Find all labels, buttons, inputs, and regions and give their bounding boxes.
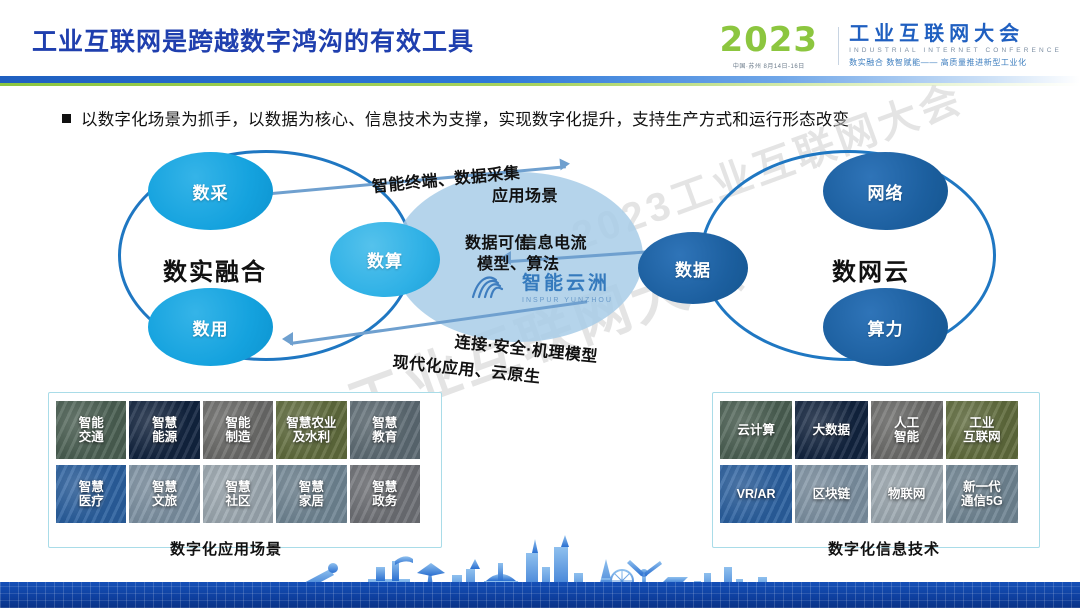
tile[interactable]: 云计算 [720, 401, 792, 459]
logo-year-subtitle: 中国·苏州 8月14日-16日 [733, 61, 805, 70]
panel-digital-technologies: 云计算大数据人工 智能工业 互联网 VR/AR区块链物联网新一代 通信5G [712, 392, 1040, 548]
page-title: 工业互联网是跨越数字鸿沟的有效工具 [32, 22, 474, 58]
logo-name-en: INDUSTRIAL INTERNET CONFERENCE [849, 47, 1062, 54]
inspur-brand-cn: 智能云洲 [522, 268, 613, 295]
scenario-row-1: 智能 交通智慧 能源智能 制造智慧农业 及水利智慧 教育 [56, 401, 434, 459]
node-suanli[interactable]: 算力 [823, 288, 948, 366]
tile[interactable]: 智慧 政务 [350, 465, 420, 523]
tile[interactable]: 智慧农业 及水利 [276, 401, 346, 459]
tile[interactable]: 物联网 [871, 465, 943, 523]
node-shucai-label: 数采 [193, 179, 229, 204]
tile-label: VR/AR [737, 487, 776, 501]
tile[interactable]: 智能 交通 [56, 401, 126, 459]
flow-label-app-scenario: 应用场景 [492, 182, 558, 206]
node-wangluo-label: 网络 [868, 179, 904, 204]
slide-root: 工业互联网是跨越数字鸿沟的有效工具 2023 中国·苏州 8月14日-16日 工… [0, 0, 1080, 608]
node-suanli-label: 算力 [868, 315, 904, 340]
tile-label: 智慧 政务 [372, 480, 397, 509]
tile[interactable]: 新一代 通信5G [946, 465, 1018, 523]
inspur-text-block: 智能云洲 INSPUR YUNZHOU [522, 268, 613, 304]
node-shusuan[interactable]: 数算 [330, 222, 440, 297]
logo-divider [838, 27, 839, 65]
tile[interactable]: 智慧 社区 [203, 465, 273, 523]
tile-label: 智能 制造 [225, 416, 250, 445]
tile[interactable]: 智慧 教育 [350, 401, 420, 459]
tile[interactable]: 区块链 [795, 465, 867, 523]
logo-tagline: 数实融合 数智赋能—— 高质量推进新型工业化 [849, 57, 1062, 68]
footer-grid-texture [0, 582, 1080, 608]
tile[interactable]: 智慧 能源 [129, 401, 199, 459]
tile[interactable]: 智慧 家居 [276, 465, 346, 523]
logo-text-block: 工业互联网大会 INDUSTRIAL INTERNET CONFERENCE 数… [849, 24, 1062, 68]
node-shuyong-label: 数用 [193, 315, 229, 340]
header-rule-green [0, 83, 1080, 86]
tile-label: 人工 智能 [894, 416, 919, 445]
tile-label: 智能 交通 [79, 416, 104, 445]
node-shuyong[interactable]: 数用 [148, 288, 273, 366]
slide-footer [0, 533, 1080, 608]
tile-label: 智慧 能源 [152, 416, 177, 445]
wave-logo-icon [470, 271, 516, 301]
node-shusuan-label: 数算 [367, 247, 403, 272]
tile-label: 智慧 社区 [225, 480, 250, 509]
tile-label: 智慧 医疗 [79, 480, 104, 509]
logo-year-block: 2023 中国·苏州 8月14日-16日 [719, 23, 828, 70]
node-shuju[interactable]: 数据 [638, 232, 748, 304]
tile-label: 智慧农业 及水利 [286, 416, 336, 445]
tile-label: 工业 互联网 [963, 416, 1001, 445]
tile[interactable]: 智能 制造 [203, 401, 273, 459]
bullet-square-icon [62, 114, 71, 123]
tile[interactable]: VR/AR [720, 465, 792, 523]
logo-name-cn: 工业互联网大会 [849, 24, 1062, 45]
concept-diagram: 2023工业互联网大会 2023工业互联网大会 数采 数用 数算 数实融合 数据 [0, 140, 1080, 390]
tile-label: 区块链 [813, 487, 851, 501]
tech-row-2: VR/AR区块链物联网新一代 通信5G [720, 465, 1032, 523]
tile-label: 智慧 教育 [372, 416, 397, 445]
node-shuju-label: 数据 [675, 256, 711, 281]
bullet-text: 以数字化场景为抓手，以数据为核心、信息技术为支撑，实现数字化提升，支持生产方式和… [81, 106, 849, 130]
header-rule-blue [0, 76, 1080, 83]
tech-row-1: 云计算大数据人工 智能工业 互联网 [720, 401, 1032, 459]
tile-label: 大数据 [813, 423, 851, 437]
tile[interactable]: 人工 智能 [871, 401, 943, 459]
node-wangluo[interactable]: 网络 [823, 152, 948, 230]
bullet-line: 以数字化场景为抓手，以数据为核心、信息技术为支撑，实现数字化提升，支持生产方式和… [62, 106, 849, 130]
right-cluster-label: 数网云 [832, 252, 910, 287]
conference-logo: 2023 中国·苏州 8月14日-16日 工业互联网大会 INDUSTRIAL … [719, 20, 1062, 72]
inspur-brand-en: INSPUR YUNZHOU [522, 297, 613, 304]
tile-label: 新一代 通信5G [961, 480, 1003, 509]
tile-label: 智慧 家居 [299, 480, 324, 509]
tile-label: 智慧 文旅 [152, 480, 177, 509]
flow-arrow-top-head [559, 158, 570, 171]
tile[interactable]: 智慧 医疗 [56, 465, 126, 523]
node-shucai[interactable]: 数采 [148, 152, 273, 230]
inspur-watermark: 智能云洲 INSPUR YUNZHOU [470, 268, 613, 304]
tile-label: 物联网 [888, 487, 926, 501]
flow-arrow-bottom-head [282, 332, 293, 346]
scenario-row-2: 智慧 医疗智慧 文旅智慧 社区智慧 家居智慧 政务 [56, 465, 434, 523]
panel-digital-scenarios: 智能 交通智慧 能源智能 制造智慧农业 及水利智慧 教育 智慧 医疗智慧 文旅智… [48, 392, 442, 548]
logo-year: 2023 [719, 23, 818, 57]
slide-header: 工业互联网是跨越数字鸿沟的有效工具 2023 中国·苏州 8月14日-16日 工… [0, 0, 1080, 92]
tile[interactable]: 大数据 [795, 401, 867, 459]
tile-label: 云计算 [737, 423, 775, 437]
tile[interactable]: 智慧 文旅 [129, 465, 199, 523]
left-cluster-label: 数实融合 [163, 252, 267, 287]
tile[interactable]: 工业 互联网 [946, 401, 1018, 459]
